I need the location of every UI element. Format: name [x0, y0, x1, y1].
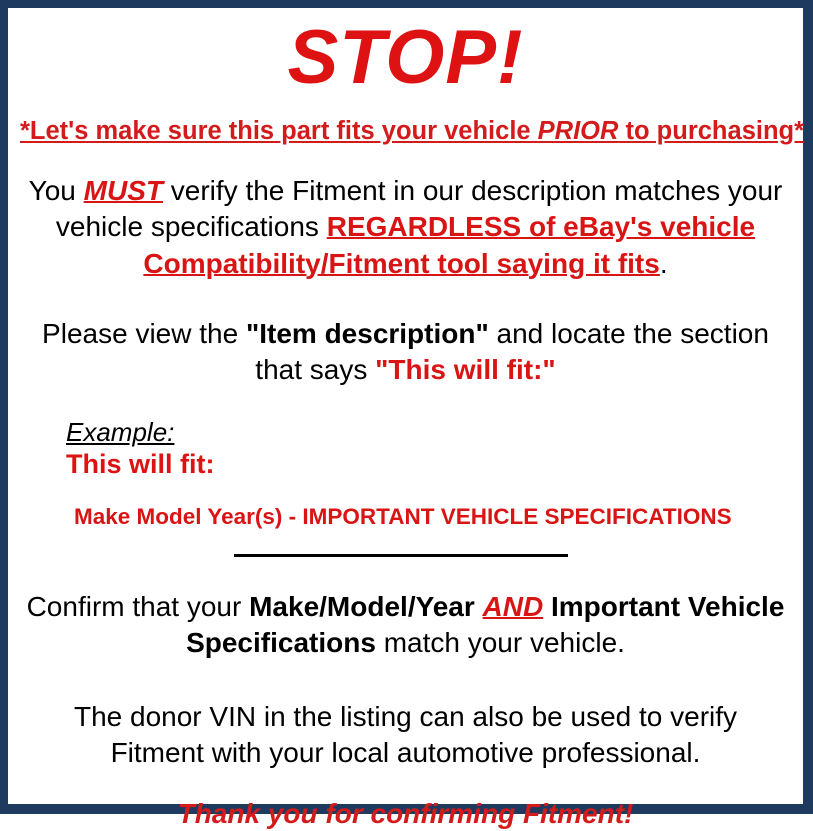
and-emphasis: AND	[483, 591, 544, 622]
must-part1: You	[29, 175, 84, 206]
this-will-fit-emphasis: "This will fit:"	[375, 354, 556, 385]
vin-paragraph: The donor VIN in the listing can also be…	[20, 661, 791, 771]
confirm-part4: match your vehicle.	[376, 627, 625, 658]
tagline-part2: to purchasing*	[618, 117, 804, 145]
item-description-emphasis: "Item description"	[246, 318, 489, 349]
confirm-part2	[475, 591, 483, 622]
fitment-notice-card: STOP! *Let's make sure this part fits yo…	[0, 0, 813, 814]
must-paragraph: You MUST verify the Fitment in our descr…	[20, 146, 791, 281]
please-part1: Please view the	[42, 318, 246, 349]
confirm-part3	[543, 591, 551, 622]
example-label: Example:	[66, 418, 791, 447]
example-spec-line: Make Model Year(s) - IMPORTANT VEHICLE S…	[66, 481, 791, 530]
example-block: Example: This will fit: Make Model Year(…	[20, 388, 791, 530]
make-model-year-emphasis: Make/Model/Year	[249, 591, 475, 622]
must-emphasis: MUST	[84, 175, 163, 206]
page-title: STOP!	[20, 8, 791, 96]
tagline-part1: *Let's make sure this part fits your veh…	[20, 117, 538, 145]
confirm-paragraph: Confirm that your Make/Model/Year AND Im…	[20, 557, 791, 661]
fitment-notice-inner: STOP! *Let's make sure this part fits yo…	[8, 8, 803, 804]
example-fit-heading: This will fit:	[66, 446, 791, 480]
tagline: *Let's make sure this part fits your veh…	[20, 96, 791, 146]
must-part3: .	[660, 248, 668, 279]
please-paragraph: Please view the "Item description" and l…	[20, 282, 791, 388]
confirm-part1: Confirm that your	[27, 591, 250, 622]
thanks-message: Thank you for confirming Fitment!	[20, 771, 791, 831]
tagline-emphasis-prior: PRIOR	[538, 117, 619, 145]
divider-wrap	[20, 530, 791, 557]
